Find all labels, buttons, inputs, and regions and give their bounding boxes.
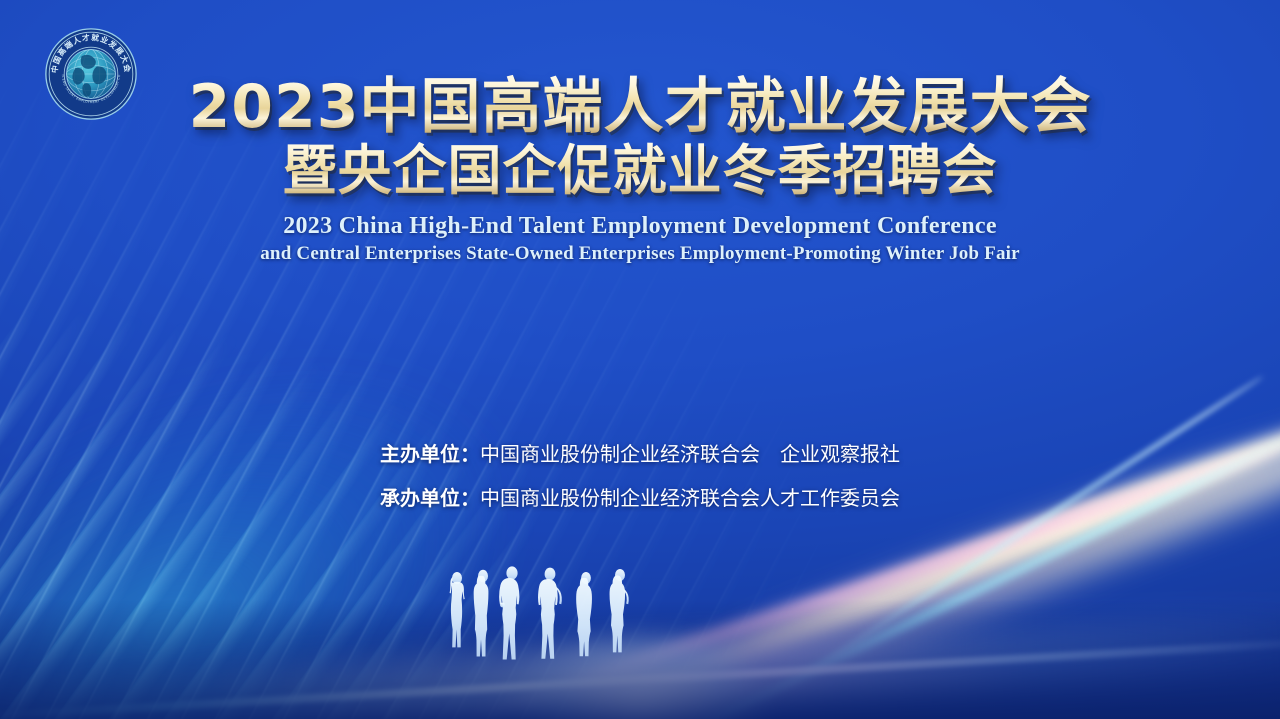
silhouette-3 <box>499 566 519 659</box>
title-chinese-line-2: 暨央企国企促就业冬季招聘会 <box>0 138 1280 204</box>
silhouette-4 <box>538 568 562 659</box>
organizer-row-host: 主办单位：中国商业股份制企业经济联合会 企业观察报社 <box>0 432 1280 476</box>
title-english-line-2: and Central Enterprises State-Owned Ente… <box>0 241 1280 266</box>
title-block: 2023中国高端人才就业发展大会 暨央企国企促就业冬季招聘会 2023 Chin… <box>0 72 1280 266</box>
silhouette-6 <box>610 569 629 652</box>
title-english-line-1: 2023 China High-End Talent Employment De… <box>0 212 1280 241</box>
organizer-value-undertaker: 中国商业股份制企业经济联合会人才工作委员会 <box>480 486 900 510</box>
organizer-value-host: 中国商业股份制企业经济联合会 企业观察报社 <box>480 442 900 466</box>
organizer-label-host: 主办单位： <box>380 442 480 466</box>
silhouette-1 <box>450 572 465 647</box>
silhouette-2 <box>474 570 489 657</box>
people-silhouettes <box>440 565 650 690</box>
title-chinese-line-1: 2023中国高端人才就业发展大会 <box>0 72 1280 142</box>
organizer-block: 主办单位：中国商业股份制企业经济联合会 企业观察报社 承办单位：中国商业股份制企… <box>0 432 1280 520</box>
conference-banner: 中国高端人才就业发展大会 CHINA HIGH-END TALENT EMPLO… <box>0 0 1280 719</box>
organizer-row-undertaker: 承办单位：中国商业股份制企业经济联合会人才工作委员会 <box>0 476 1280 520</box>
organizer-label-undertaker: 承办单位： <box>380 486 480 510</box>
silhouette-5 <box>576 572 592 656</box>
